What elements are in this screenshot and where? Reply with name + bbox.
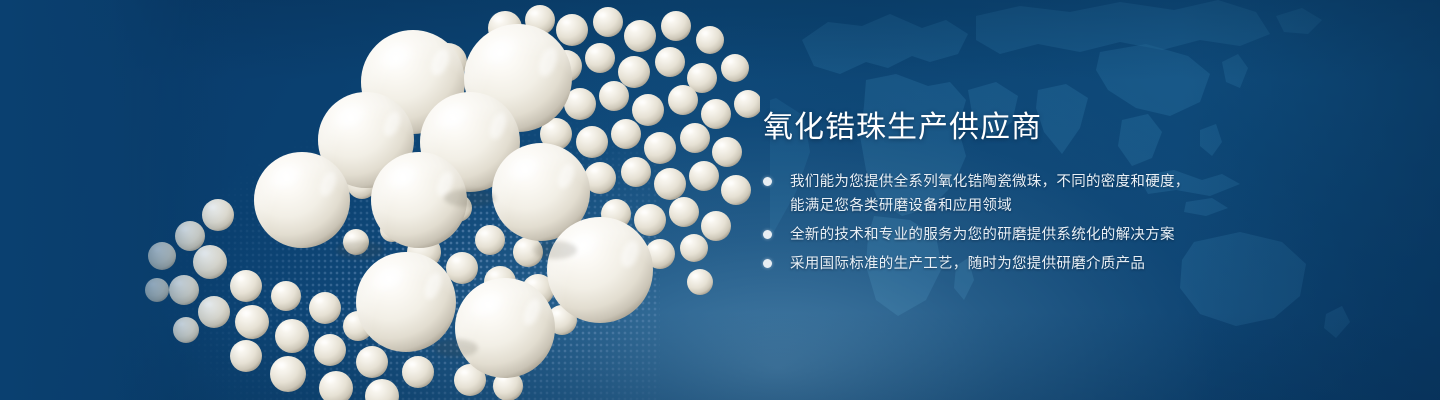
bullet-dot-icon [763, 259, 772, 268]
page-title: 氧化锆珠生产供应商 [763, 108, 1233, 148]
list-item-text: 全新的技术和专业的服务为您的研磨提供系统化的解决方案 [790, 223, 1233, 247]
banner-content: 氧化锆珠生产供应商 我们能为您提供全系列氧化锆陶瓷微珠，不同的密度和硬度， 能满… [763, 108, 1233, 276]
list-item: 全新的技术和专业的服务为您的研磨提供系统化的解决方案 [763, 223, 1233, 247]
feature-list: 我们能为您提供全系列氧化锆陶瓷微珠，不同的密度和硬度， 能满足您各类研磨设备和应… [763, 170, 1233, 276]
list-item-line: 全新的技术和专业的服务为您的研磨提供系统化的解决方案 [790, 227, 1175, 243]
list-item: 采用国际标准的生产工艺，随时为您提供研磨介质产品 [763, 252, 1233, 276]
bullet-dot-icon [763, 230, 772, 239]
list-item-line: 能满足您各类研磨设备和应用领域 [790, 194, 1233, 218]
zirconia-beads-banner: 氧化锆珠生产供应商 我们能为您提供全系列氧化锆陶瓷微珠，不同的密度和硬度， 能满… [0, 0, 1440, 400]
list-item: 我们能为您提供全系列氧化锆陶瓷微珠，不同的密度和硬度， 能满足您各类研磨设备和应… [763, 170, 1233, 218]
bullet-dot-icon [763, 177, 772, 186]
list-item-text: 我们能为您提供全系列氧化锆陶瓷微珠，不同的密度和硬度， 能满足您各类研磨设备和应… [790, 170, 1233, 218]
list-item-line: 采用国际标准的生产工艺，随时为您提供研磨介质产品 [790, 256, 1145, 272]
list-item-line: 我们能为您提供全系列氧化锆陶瓷微珠，不同的密度和硬度， [790, 174, 1190, 190]
list-item-text: 采用国际标准的生产工艺，随时为您提供研磨介质产品 [790, 252, 1233, 276]
